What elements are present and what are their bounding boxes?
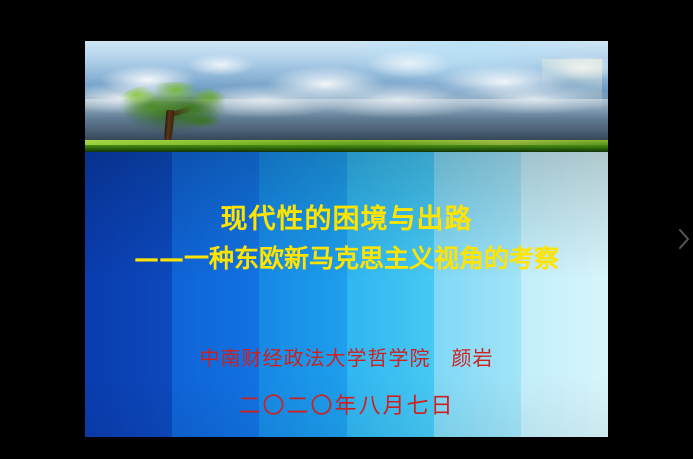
tree-graphic <box>109 82 237 144</box>
grass-highlight <box>85 140 608 145</box>
tree-trunk <box>164 110 175 144</box>
slide-text-layer: 现代性的困境与出路 ——一种东欧新马克思主义视角的考察 中南财经政法大学哲学院 … <box>85 152 608 437</box>
tree-landscape-photo <box>85 41 608 152</box>
slide-title: 现代性的困境与出路 <box>85 206 608 233</box>
slide-viewer: 现代性的困境与出路 ——一种东欧新马克思主义视角的考察 中南财经政法大学哲学院 … <box>0 0 693 459</box>
slide-author: 中南财经政法大学哲学院 颜岩 <box>85 348 608 368</box>
slide-date: 二〇二〇年八月七日 <box>85 396 608 418</box>
slide-subtitle: ——一种东欧新马克思主义视角的考察 <box>85 246 608 271</box>
presentation-slide[interactable]: 现代性的困境与出路 ——一种东欧新马克思主义视角的考察 中南财经政法大学哲学院 … <box>85 41 608 437</box>
tree-branch-right <box>181 112 233 130</box>
next-slide-chevron-right-icon[interactable] <box>676 226 692 252</box>
sun-ray-streak <box>542 59 602 115</box>
